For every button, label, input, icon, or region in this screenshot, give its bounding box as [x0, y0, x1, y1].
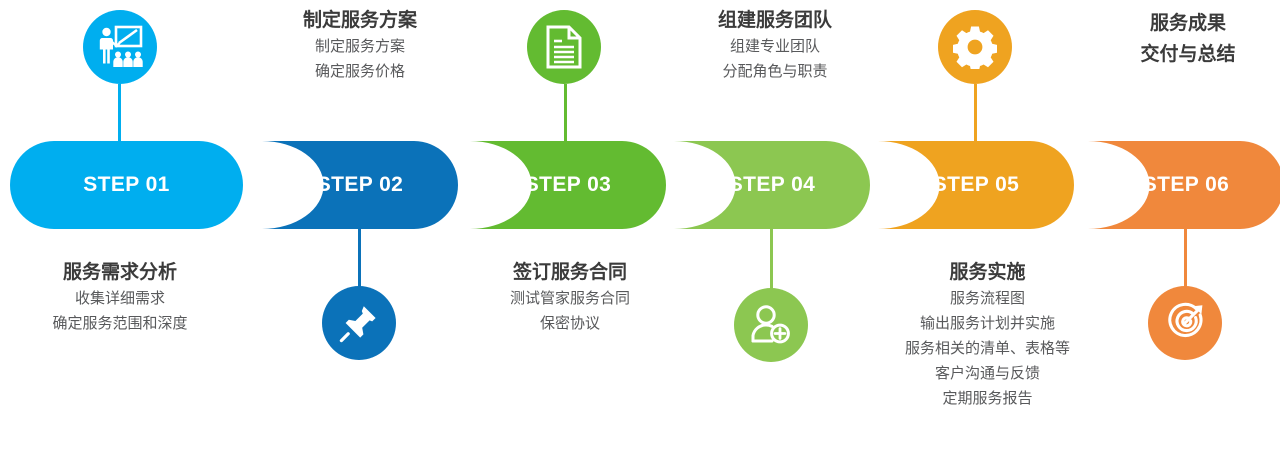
- step-1-text-block: 服务需求分析 收集详细需求 确定服务范围和深度: [0, 260, 240, 336]
- step-1-icon-circle: [83, 10, 157, 84]
- step-6-chevron: STEP 06: [1088, 141, 1280, 229]
- step-5-line-5: 定期服务报告: [865, 386, 1110, 411]
- step-6-connector: [1184, 226, 1187, 288]
- step-3-line-1: 测试管家服务合同: [450, 286, 690, 311]
- step-4-chevron: STEP 04: [674, 141, 870, 229]
- step-2-text-block: 制定服务方案 制定服务方案 确定服务价格: [240, 8, 480, 84]
- step-6-title: 服务成果: [1068, 8, 1280, 39]
- step-1-line-2: 确定服务范围和深度: [0, 311, 240, 336]
- step-2-title: 制定服务方案: [240, 8, 480, 34]
- step-4-icon-circle: [734, 288, 808, 362]
- add-user-icon: [750, 304, 792, 346]
- presentation-training-icon: [97, 25, 143, 69]
- step-5-connector: [974, 84, 977, 144]
- step-2-chevron: STEP 02: [262, 141, 458, 229]
- step-6-icon-circle: [1148, 286, 1222, 360]
- step-4-title: 组建服务团队: [655, 8, 895, 34]
- step-5-chevron: STEP 05: [878, 141, 1074, 229]
- step-1-connector: [118, 84, 121, 144]
- step-5-line-2: 输出服务计划并实施: [865, 311, 1110, 336]
- step-3-connector: [564, 84, 567, 144]
- process-flow-diagram: STEP 01 服务需求分析 收集详细需求 确定服务范围和深度 制定服务方案 制…: [0, 0, 1280, 449]
- step-5-line-3: 服务相关的清单、表格等: [865, 336, 1110, 361]
- step-3-text-block: 签订服务合同 测试管家服务合同 保密协议: [450, 260, 690, 336]
- step-1-chevron: STEP 01: [10, 141, 243, 229]
- gear-icon: [953, 25, 997, 69]
- step-3-icon-circle: [527, 10, 601, 84]
- step-3-chevron: STEP 03: [470, 141, 666, 229]
- step-2-icon-circle: [322, 286, 396, 360]
- step-1-badge-label: STEP 01: [83, 173, 169, 197]
- target-arrow-icon: [1164, 302, 1206, 344]
- step-3-badge-label: STEP 03: [525, 173, 611, 197]
- step-3-title: 签订服务合同: [450, 260, 690, 286]
- step-6-text-block: 服务成果 交付与总结: [1068, 8, 1280, 70]
- step-4-line-1: 组建专业团队: [655, 34, 895, 59]
- pushpin-icon: [339, 303, 379, 343]
- step-2-badge-label: STEP 02: [317, 173, 403, 197]
- step-5-line-1: 服务流程图: [865, 286, 1110, 311]
- step-5-badge-label: STEP 05: [933, 173, 1019, 197]
- step-6-title-2: 交付与总结: [1068, 39, 1280, 70]
- step-1-line-1: 收集详细需求: [0, 286, 240, 311]
- step-5-icon-circle: [938, 10, 1012, 84]
- step-4-text-block: 组建服务团队 组建专业团队 分配角色与职责: [655, 8, 895, 84]
- step-4-badge-label: STEP 04: [729, 173, 815, 197]
- step-6-badge-label: STEP 06: [1143, 173, 1229, 197]
- step-1-title: 服务需求分析: [0, 260, 240, 286]
- step-2-connector: [358, 226, 361, 288]
- step-4-line-2: 分配角色与职责: [655, 59, 895, 84]
- step-2-line-2: 确定服务价格: [240, 59, 480, 84]
- document-icon: [545, 25, 583, 69]
- step-4-connector: [770, 226, 773, 290]
- step-2-line-1: 制定服务方案: [240, 34, 480, 59]
- step-5-line-4: 客户沟通与反馈: [865, 361, 1110, 386]
- step-5-title: 服务实施: [865, 260, 1110, 286]
- step-3-line-2: 保密协议: [450, 311, 690, 336]
- step-5-text-block: 服务实施 服务流程图 输出服务计划并实施 服务相关的清单、表格等 客户沟通与反馈…: [865, 260, 1110, 411]
